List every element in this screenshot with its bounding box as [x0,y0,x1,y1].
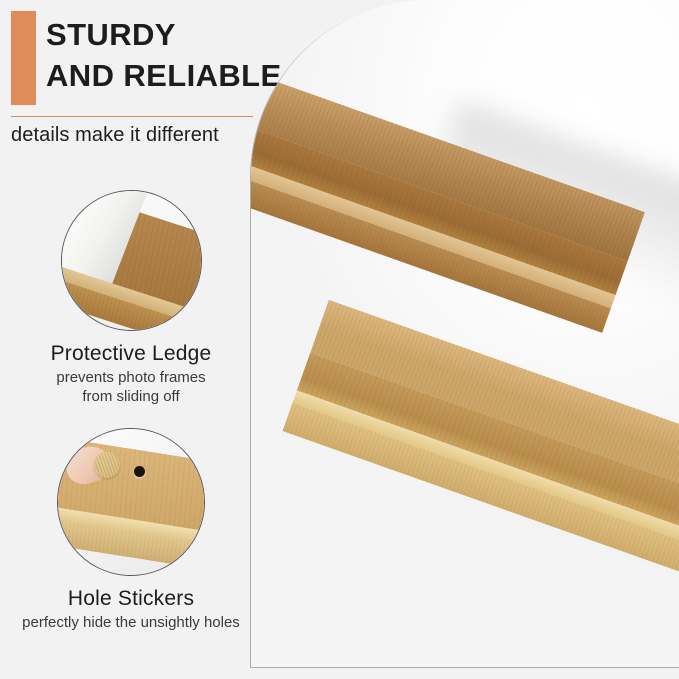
left-column: STURDY AND RELIABLE details make it diff… [0,0,262,679]
headline-subtitle: details make it different [11,124,219,147]
ledge-detail-scene [62,191,201,330]
feature-title: Protective Ledge [0,341,262,366]
feature-caption: perfectly hide the unsightly holes [0,613,262,632]
headline-divider [11,116,253,117]
product-photo-panel [250,0,679,668]
feature-protective-ledge: Protective Ledge prevents photo frames f… [0,190,262,406]
feature-caption-line-1: prevents photo frames [0,368,262,387]
accent-bar [11,11,36,105]
sticker-detail-scene [58,429,204,575]
screw-hole [134,466,145,477]
feature-caption-line-1: perfectly hide the unsightly holes [0,613,262,632]
feature-caption-line-2: from sliding off [0,387,262,406]
feature-title: Hole Stickers [0,586,262,611]
feature-image-protective-ledge [61,190,202,331]
wood-hole-sticker [94,452,120,478]
headline-block: STURDY AND RELIABLE details make it diff… [0,0,262,150]
product-infographic: STURDY AND RELIABLE details make it diff… [0,0,679,679]
feature-image-hole-stickers [57,428,205,576]
feature-caption: prevents photo frames from sliding off [0,368,262,406]
feature-hole-stickers: Hole Stickers perfectly hide the unsight… [0,428,262,632]
